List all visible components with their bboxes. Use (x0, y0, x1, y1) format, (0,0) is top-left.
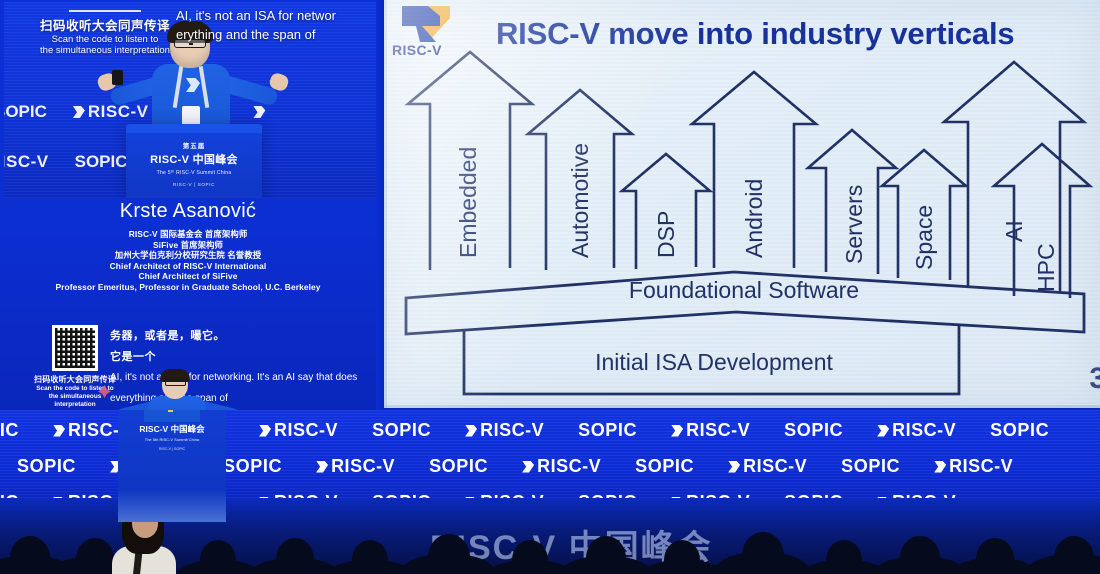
arrow-label-dsp: DSP (653, 211, 679, 258)
podium-sponsors: RISC-V | SOPIC (126, 182, 262, 187)
sopic-logo: SOPIC (635, 456, 694, 477)
arrow-label-ai: AI (1001, 220, 1027, 242)
sopic-logo: SOPIC (4, 102, 47, 122)
audience-silhouette (664, 540, 700, 574)
arrow-label-servers: Servers (841, 185, 867, 264)
arrow-label-hpc: HPC (1033, 243, 1059, 292)
riscv-logo-mark: RISC-V (877, 420, 956, 441)
arrow-label-embedded: Embedded (455, 147, 481, 258)
scan-caption-block: 扫码收听大会同声传译 Scan the code to listen to th… (20, 10, 190, 56)
audience-silhouette (352, 540, 388, 574)
live-subtitle-top: AI, it's not an ISA for networ erything … (176, 6, 376, 44)
podium-title-en: The 5ᵗʰ RISC-V Summit China (126, 170, 262, 176)
riscv-logo-text: RISC-V (949, 456, 1013, 477)
riscv-logo-text: RISC-V (743, 456, 807, 477)
riscv-logo-mark: RISC-V (728, 456, 807, 477)
riscv-logo-mark-icon (400, 4, 452, 44)
stage-podium: 第五届 RISC-V 中国峰会 The 5th RISC-V Summit Ch… (118, 410, 226, 522)
riscv-logo-mark: RISC-V (259, 420, 338, 441)
live-video-panel: SOPIC RISC-V SOPIC RISC-V SOPIC RISC-V (0, 0, 376, 410)
slide-page-number: 3 (1089, 362, 1100, 396)
stage-podium-skyline-graphic (118, 490, 226, 522)
arrow-label-automotive: Automotive (567, 143, 593, 258)
panel-divider (376, 0, 384, 410)
riscv-mark-icon (671, 425, 683, 437)
qr-label-cn: 扫码收听大会同声传译 (34, 374, 116, 385)
speaker-title-4: Chief Architect of RISC-V International (0, 261, 376, 272)
transcript-cn-1: 务器，或者是，嘬它。 (110, 327, 372, 343)
stage-podium-title-cn: RISC-V 中国峰会 (118, 423, 226, 435)
slide-bottom-edge (384, 405, 1100, 408)
speaker-title-1: RISC-V 国际基金会 首席架构师 (0, 229, 376, 240)
riscv-logo-mark: RISC-V (522, 456, 601, 477)
arrow-label-space: Space (911, 205, 937, 270)
sopic-logo: SOPIC (223, 456, 282, 477)
industry-verticals-diagram: Foundational Software Initial ISA Develo… (384, 46, 1100, 406)
sopic-logo: SOPIC (841, 456, 900, 477)
audience-silhouette (428, 534, 470, 574)
audience-silhouette (900, 536, 940, 574)
audience-silhouette (76, 538, 114, 574)
riscv-mark-icon (316, 461, 328, 473)
sopic-logo: SOPIC (0, 420, 19, 441)
audience-silhouette (976, 538, 1014, 574)
live-subtitle-line-2: erything and the span of (176, 25, 376, 44)
riscv-logo-text: RISC-V (537, 456, 601, 477)
transcript-cn-2: 它是一个 (110, 348, 372, 364)
lower-caption-region: 扫码收听大会同声传译 Scan the code to listen to th… (0, 325, 376, 410)
caption-rule (69, 10, 141, 12)
sopic-logo: SOPIC (990, 420, 1049, 441)
stage-speaker-lanyard (168, 410, 173, 412)
layer-label-foundational-software: Foundational Software (629, 277, 859, 303)
speaker-name: Krste Asanović (0, 200, 376, 223)
stage-podium-title-en: The 5th RISC-V Summit China (118, 437, 226, 442)
sopic-logo: SOPIC (372, 420, 431, 441)
presenter-clicker (112, 70, 123, 85)
riscv-mark-icon (522, 461, 534, 473)
audience-silhouette (200, 540, 236, 574)
glasses-icon-small (165, 380, 186, 386)
speaker-name-block: Krste Asanović RISC-V 国际基金会 首席架构师 SiFive… (0, 200, 376, 293)
audience-silhouette (1054, 536, 1094, 574)
speaker-figure-small (120, 371, 240, 410)
audience-silhouette (826, 540, 862, 574)
stage-speaker-figure (122, 410, 224, 418)
sopic-logo: SOPIC (429, 456, 488, 477)
sopic-logo: SOPIC (784, 420, 843, 441)
riscv-mark-icon (877, 425, 889, 437)
riscv-logo-text: RISC-V (274, 420, 338, 441)
riscv-logo-text: RISC-V (4, 152, 49, 172)
layer-label-initial-isa-development: Initial ISA Development (595, 349, 833, 375)
riscv-logo-mark: RISC-V (316, 456, 395, 477)
audience-silhouette (742, 532, 784, 574)
live-subtitle-line-1: AI, it's not an ISA for networ (176, 6, 376, 25)
arrow-label-android: Android (741, 179, 767, 258)
speaker-title-2: SiFive 首席架构师 (0, 240, 376, 251)
riscv-logo-mark: RISC-V (465, 420, 544, 441)
riscv-mark-icon (73, 106, 85, 118)
scan-caption-en-2: the simultaneous interpretation (20, 45, 190, 56)
podium-top (126, 124, 262, 133)
projected-slide: RISC-V RISC-V move into industry vertica… (384, 0, 1100, 408)
audience-silhouette (512, 540, 548, 574)
sopic-logo: SOPIC (578, 420, 637, 441)
sopic-logo: SOPIC (17, 456, 76, 477)
riscv-logo-text: RISC-V (480, 420, 544, 441)
riscv-mark-icon (259, 425, 271, 437)
sopic-logo: SOPIC (75, 152, 128, 172)
riscv-mark-icon (53, 425, 65, 437)
audience-silhouette (276, 538, 314, 574)
riscv-logo-mark: RISC-V (934, 456, 1013, 477)
podium: 第五届 RISC-V 中国峰会 The 5ᵗʰ RISC-V Summit Ch… (126, 124, 262, 198)
podium-title-cn: RISC-V 中国峰会 (126, 151, 262, 167)
riscv-mark-icon (465, 425, 477, 437)
scan-caption-en-1: Scan the code to listen to (20, 34, 190, 45)
riscv-logo-mark: RISC-V (671, 420, 750, 441)
podium-edition: 第五届 (126, 140, 262, 150)
riscv-mark-icon (934, 461, 946, 473)
audience-silhouette (586, 536, 626, 574)
screenshot-stage: SOPIC RISC-V SOPIC RISC-V SOPIC RISC-V (0, 0, 1100, 574)
riscv-logo-text: RISC-V (686, 420, 750, 441)
riscv-logo-mark: RISC-V (4, 152, 49, 172)
video-feed: SOPIC RISC-V SOPIC RISC-V SOPIC RISC-V (4, 2, 376, 198)
audience-silhouette (10, 536, 50, 574)
podium-text: 第五届 RISC-V 中国峰会 The 5ᵗʰ RISC-V Summit Ch… (126, 140, 262, 187)
riscv-logo-text: RISC-V (892, 420, 956, 441)
stage-podium-sponsors: RISC-V | SOPIC (118, 447, 226, 451)
speaker-title-5: Chief Architect of SiFive (0, 271, 376, 282)
speaker-title-6: Professor Emeritus, Professor in Graduat… (0, 282, 376, 293)
riscv-logo-text: RISC-V (331, 456, 395, 477)
podium-skyline-graphic (126, 194, 262, 198)
scan-caption-cn: 扫码收听大会同声传译 (20, 15, 190, 34)
speaker-title-3: 加州大学伯克利分校研究生院 名誉教授 (0, 250, 376, 261)
riscv-mark-icon (728, 461, 740, 473)
qr-pattern (55, 328, 95, 368)
qr-code-icon[interactable] (52, 325, 98, 371)
